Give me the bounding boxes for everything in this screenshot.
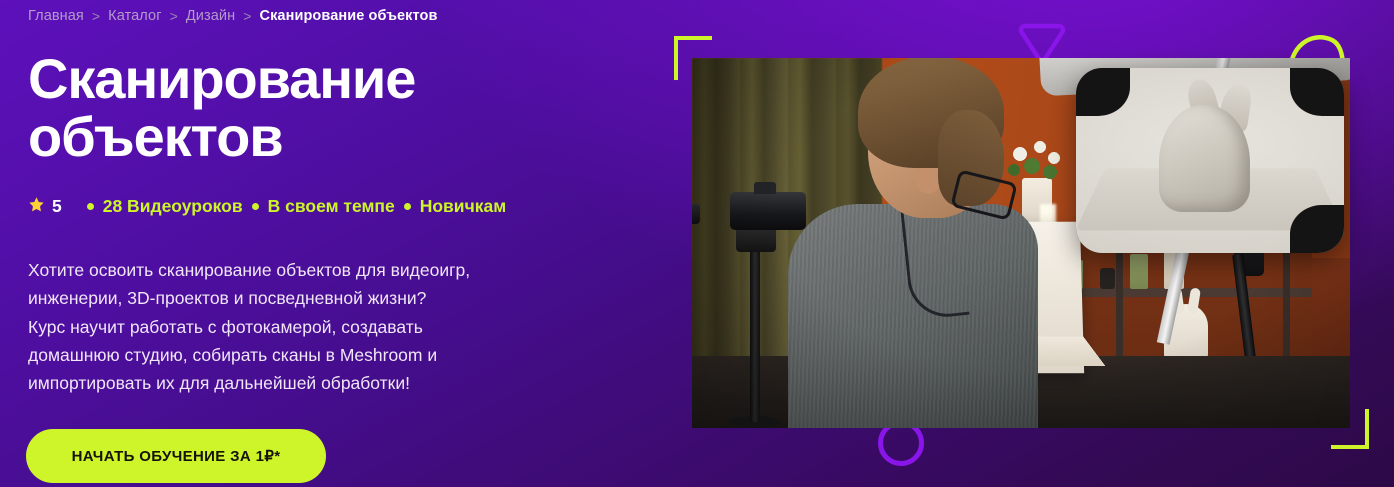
breadcrumb-item-current: Сканирование объектов bbox=[260, 8, 438, 24]
breadcrumb-separator: > bbox=[170, 8, 178, 24]
scan-dog-model bbox=[1159, 105, 1250, 212]
page-title: Сканирование объектов bbox=[28, 50, 548, 166]
meta-item-lessons-label: 28 Видеоуроков bbox=[103, 196, 243, 217]
breadcrumb-separator: > bbox=[243, 8, 251, 24]
rating-value: 5 bbox=[52, 196, 62, 217]
meta-item-level-label: Новичкам bbox=[420, 196, 506, 217]
meta-item-pace: В своем темпе bbox=[243, 196, 395, 217]
bullet-dot-icon bbox=[404, 203, 411, 210]
breadcrumb: Главная > Каталог > Дизайн > Сканировани… bbox=[28, 8, 438, 24]
bullet-dot-icon bbox=[87, 203, 94, 210]
breadcrumb-separator: > bbox=[92, 8, 100, 24]
course-meta-row: 5 28 Видеоуроков В своем темпе Новичкам bbox=[28, 196, 506, 217]
course-description: Хотите освоить сканирование объектов для… bbox=[28, 256, 558, 398]
meta-item-level: Новичкам bbox=[395, 196, 506, 217]
meta-item-lessons: 28 Видеоуроков bbox=[78, 196, 243, 217]
course-hero-banner: Главная > Каталог > Дизайн > Сканировани… bbox=[0, 0, 1394, 487]
breadcrumb-item-home[interactable]: Главная bbox=[28, 8, 84, 24]
bullet-dot-icon bbox=[252, 203, 259, 210]
breadcrumb-item-catalog[interactable]: Каталог bbox=[108, 8, 161, 24]
breadcrumb-item-design[interactable]: Дизайн bbox=[186, 8, 235, 24]
meta-item-pace-label: В своем темпе bbox=[268, 196, 395, 217]
scan-preview-inset bbox=[1076, 68, 1344, 253]
start-course-button[interactable]: НАЧАТЬ ОБУЧЕНИЕ ЗА 1₽* bbox=[26, 429, 326, 483]
star-icon bbox=[28, 196, 45, 217]
triangle-outline-icon bbox=[1018, 20, 1066, 62]
